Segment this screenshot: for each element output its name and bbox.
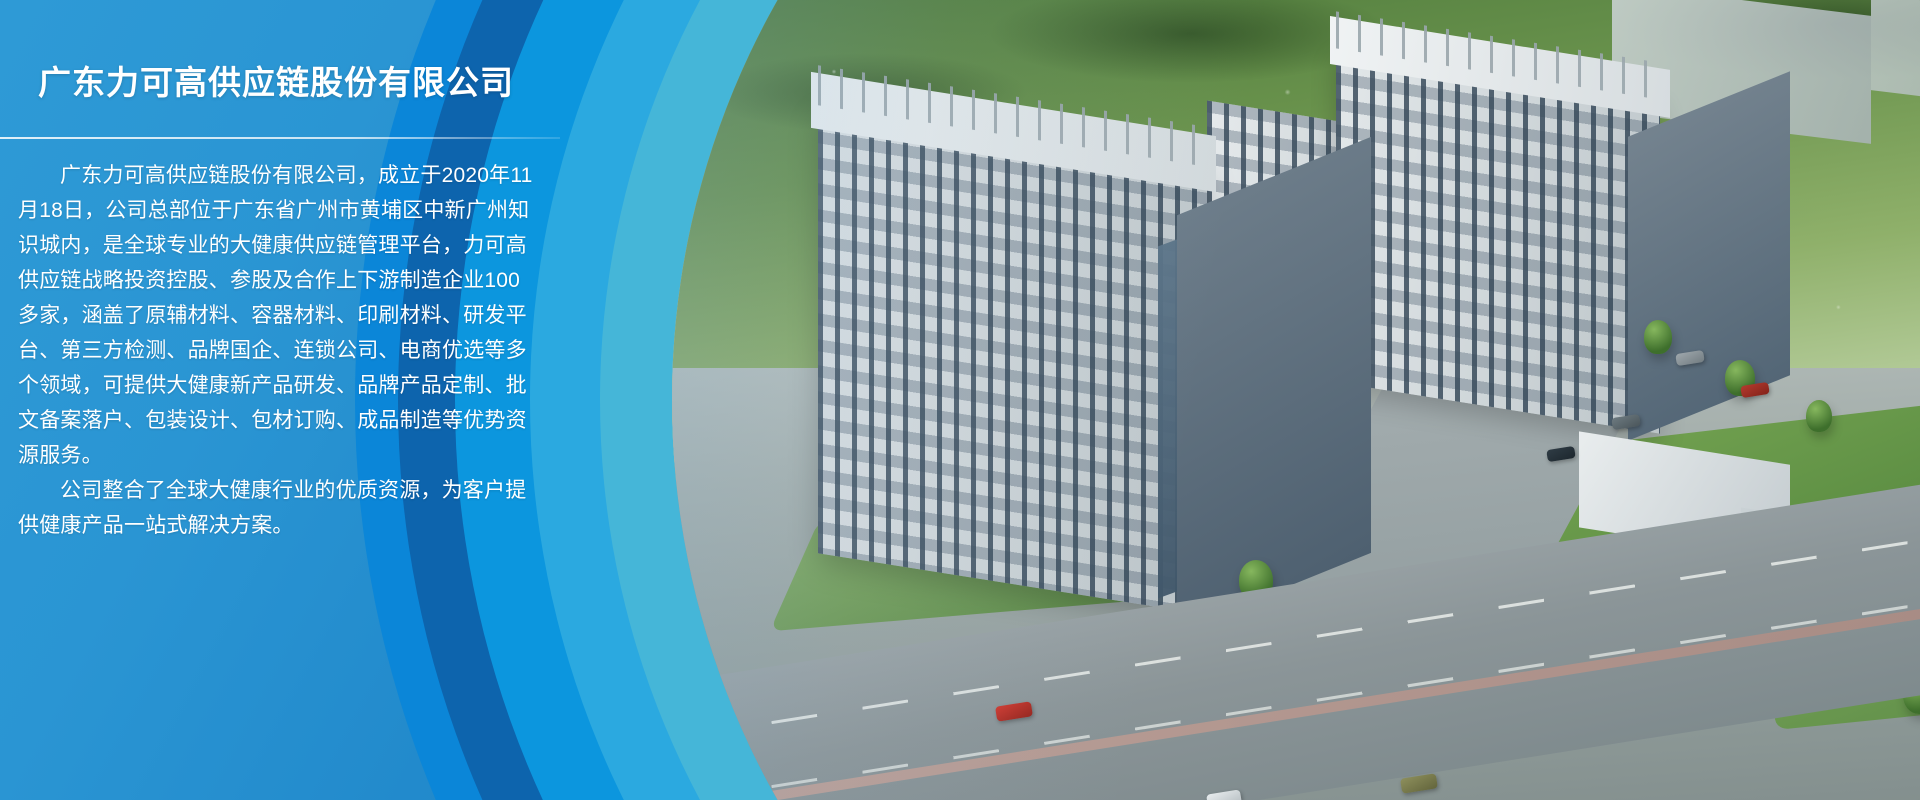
- page-title: 广东力可高供应链股份有限公司: [38, 56, 514, 104]
- office-tower-left: [818, 105, 1207, 615]
- tree: [1806, 400, 1832, 432]
- window-grid: [818, 105, 1207, 615]
- description-paragraph-2: 公司整合了全球大健康行业的优质资源，为客户提供健康产品一站式解决方案。: [18, 473, 538, 543]
- banner-stage: 广东力可高供应链股份有限公司 广东力可高供应链股份有限公司，成立于2020年11…: [0, 0, 1920, 800]
- description-paragraph-1: 广东力可高供应链股份有限公司，成立于2020年11月18日，公司总部位于广东省广…: [18, 158, 538, 473]
- company-description: 广东力可高供应链股份有限公司，成立于2020年11月18日，公司总部位于广东省广…: [18, 158, 538, 543]
- title-divider: [0, 137, 560, 139]
- info-panel: 广东力可高供应链股份有限公司 广东力可高供应链股份有限公司，成立于2020年11…: [0, 0, 560, 800]
- tree: [1644, 320, 1672, 354]
- photo-scene: [672, 0, 1920, 800]
- office-tower-left-side: [1177, 137, 1371, 632]
- campus-aerial-photo: [672, 0, 1920, 800]
